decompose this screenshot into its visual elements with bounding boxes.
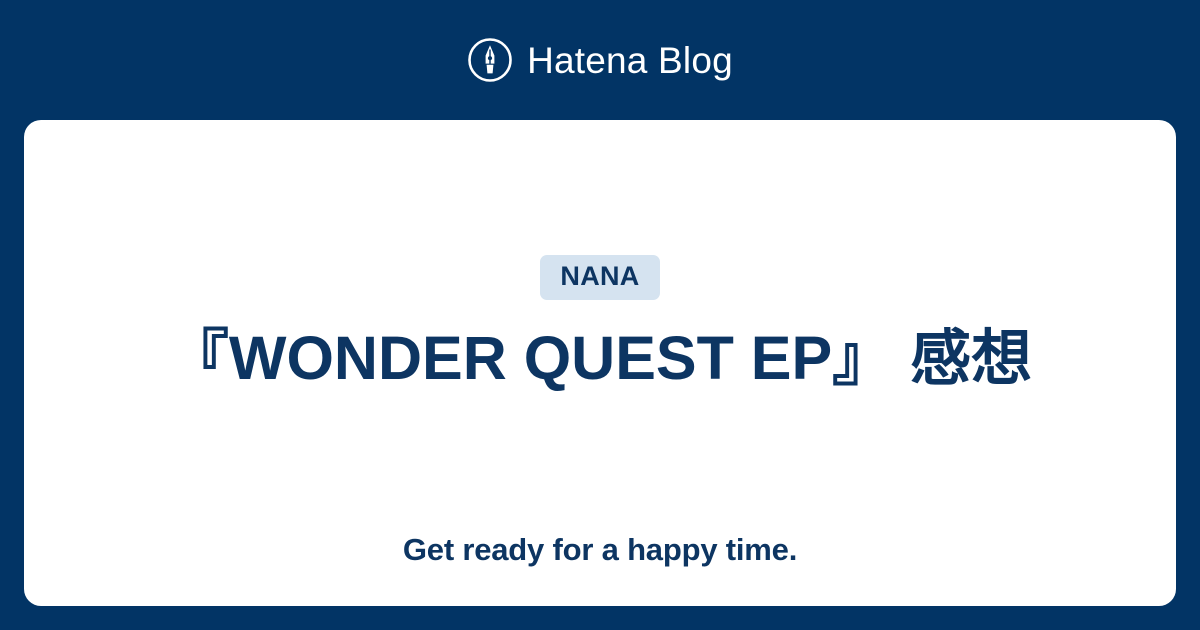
og-image-root: Hatena Blog NANA 『WONDER QUEST EP』 感想 Ge… bbox=[0, 0, 1200, 630]
brand-name: Hatena Blog bbox=[527, 42, 733, 79]
pen-nib-circle-icon bbox=[467, 37, 513, 83]
entry-subtitle: Get ready for a happy time. bbox=[403, 531, 797, 568]
entry-card: NANA 『WONDER QUEST EP』 感想 Get ready for … bbox=[24, 120, 1176, 606]
entry-card-content: NANA 『WONDER QUEST EP』 感想 Get ready for … bbox=[24, 120, 1176, 599]
entry-title: 『WONDER QUEST EP』 感想 bbox=[168, 324, 1032, 392]
site-header: Hatena Blog bbox=[0, 0, 1200, 120]
category-badge: NANA bbox=[540, 255, 659, 300]
